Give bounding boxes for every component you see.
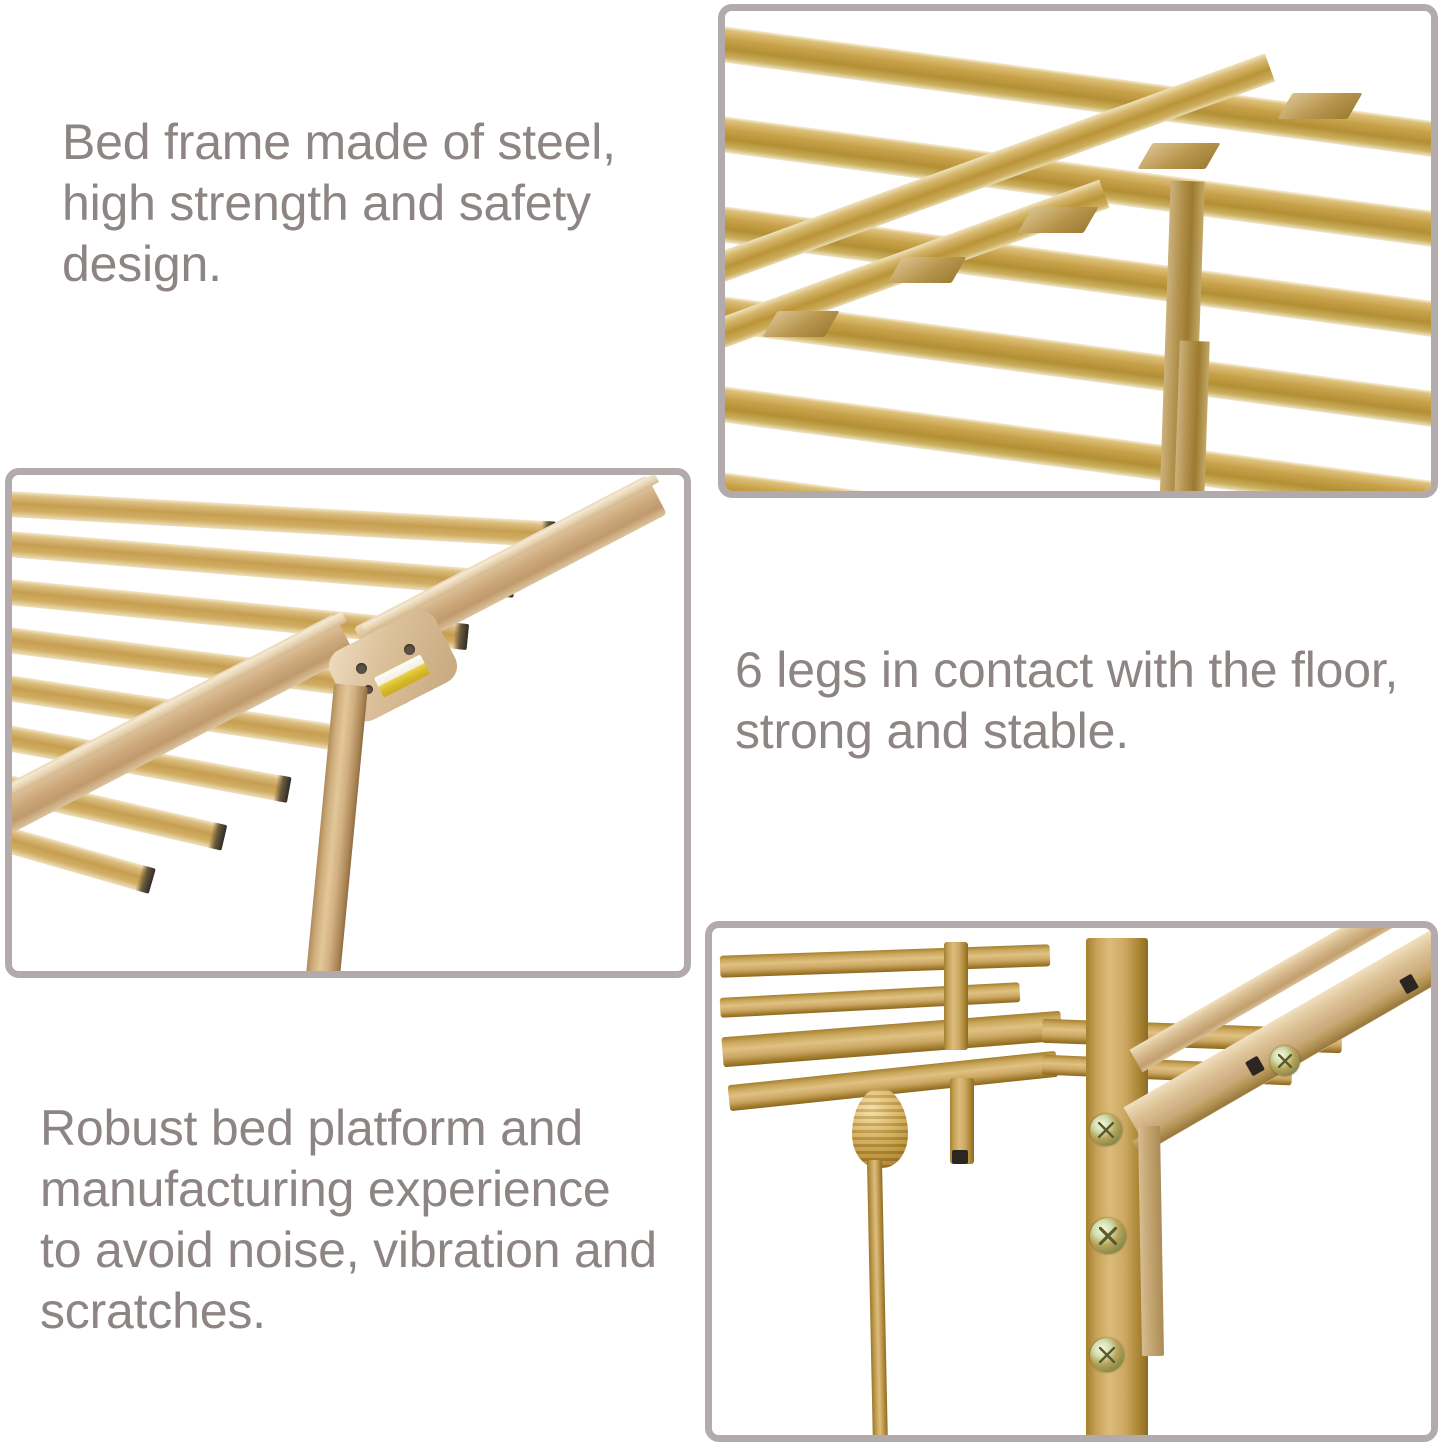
panel-frame-corner bbox=[5, 468, 691, 978]
assembly-screw bbox=[1090, 1218, 1126, 1254]
assembly-screw bbox=[1090, 1338, 1124, 1372]
assembly-screw bbox=[1090, 1114, 1122, 1146]
feature-caption-six-legs: 6 legs in contact with the floor, strong… bbox=[735, 640, 1425, 762]
assembly-screw bbox=[1270, 1046, 1300, 1076]
photo-leg-joint bbox=[712, 928, 1431, 1435]
infographic-canvas: Bed frame made of steel, high strength a… bbox=[0, 0, 1445, 1445]
photo-steel-slats bbox=[725, 11, 1431, 491]
panel-steel-slats bbox=[718, 4, 1438, 498]
feature-caption-robust-platform: Robust bed platform and manufacturing ex… bbox=[40, 1098, 690, 1342]
decorative-finial bbox=[852, 1088, 908, 1168]
panel-leg-joint bbox=[705, 921, 1438, 1442]
feature-caption-steel-frame: Bed frame made of steel, high strength a… bbox=[62, 112, 662, 295]
photo-frame-corner bbox=[12, 475, 684, 971]
